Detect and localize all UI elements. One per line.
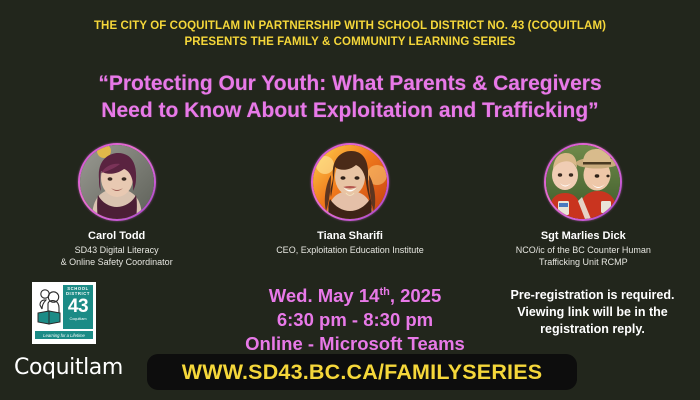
sd43-number: 43 <box>68 297 88 317</box>
speaker-card-carol-todd: Carol Todd SD43 Digital Literacy & Onlin… <box>12 143 222 268</box>
event-date: Wed. May 14th, 2025 <box>205 280 505 308</box>
registration-note: Pre-registration is required. Viewing li… <box>485 287 700 338</box>
url-banner[interactable]: WWW.SD43.BC.CA/FAMILYSERIES <box>147 354 577 390</box>
event-platform: Online - Microsoft Teams <box>205 332 505 356</box>
avatar-ring <box>544 143 622 221</box>
logo-block: SCHOOL DISTRICT 43 Coquitlam Learning fo… <box>14 282 146 380</box>
sd43-city: Coquitlam <box>69 317 86 322</box>
speaker-role-line-2: & Online Safety Coordinator <box>61 257 173 269</box>
header-line-2: PRESENTS THE FAMILY & COMMUNITY LEARNING… <box>0 34 700 50</box>
speaker-role-line-1: NCO/ic of the BC Counter Human <box>516 245 651 257</box>
speaker-role: SD43 Digital Literacy & Online Safety Co… <box>61 245 173 268</box>
speaker-card-sgt-marlies-dick: Sgt Marlies Dick NCO/ic of the BC Counte… <box>478 143 688 268</box>
sd43-reader-icon <box>35 285 63 329</box>
sd43-badge: SCHOOL DISTRICT 43 Coquitlam <box>63 285 93 329</box>
speaker-name: Carol Todd <box>88 229 145 243</box>
url-banner-text[interactable]: WWW.SD43.BC.CA/FAMILYSERIES <box>182 360 543 385</box>
speaker-name: Sgt Marlies Dick <box>541 229 626 243</box>
speaker-role-line-2: Trafficking Unit RCMP <box>516 257 651 269</box>
avatar <box>546 145 620 219</box>
avatar <box>80 145 154 219</box>
event-details: Wed. May 14th, 2025 6:30 pm - 8:30 pm On… <box>205 280 505 356</box>
page-title: “Protecting Our Youth: What Parents & Ca… <box>0 70 700 124</box>
header-line-1: THE CITY OF COQUITLAM IN PARTNERSHIP WIT… <box>0 18 700 34</box>
avatar-ring <box>311 143 389 221</box>
avatar <box>313 145 387 219</box>
event-time: 6:30 pm - 8:30 pm <box>205 308 505 332</box>
registration-line-1: Pre-registration is required. <box>485 287 700 304</box>
event-poster: THE CITY OF COQUITLAM IN PARTNERSHIP WIT… <box>0 0 700 400</box>
coquitlam-wordmark-text: Coquitlam <box>14 355 123 380</box>
registration-line-2: Viewing link will be in the <box>485 304 700 321</box>
registration-line-3: registration reply. <box>485 321 700 338</box>
header-kicker: THE CITY OF COQUITLAM IN PARTNERSHIP WIT… <box>0 18 700 50</box>
coquitlam-wordmark: Coquitlam <box>14 355 146 380</box>
speaker-list: Carol Todd SD43 Digital Literacy & Onlin… <box>0 143 700 268</box>
sd43-logo: SCHOOL DISTRICT 43 Coquitlam Learning fo… <box>32 282 96 344</box>
speaker-role: NCO/ic of the BC Counter Human Trafficki… <box>516 245 651 268</box>
sd43-logo-top: SCHOOL DISTRICT 43 Coquitlam <box>35 285 93 329</box>
speaker-name: Tiana Sharifi <box>317 229 383 243</box>
title-line-2: Need to Know About Exploitation and Traf… <box>0 97 700 124</box>
title-line-1: “Protecting Our Youth: What Parents & Ca… <box>0 70 700 97</box>
event-date-prefix: Wed. May 14 <box>269 285 380 306</box>
speaker-card-tiana-sharifi: Tiana Sharifi CEO, Exploitation Educatio… <box>245 143 455 257</box>
speaker-role-line-1: CEO, Exploitation Education Institute <box>276 245 424 257</box>
speaker-role: CEO, Exploitation Education Institute <box>276 245 424 257</box>
speaker-role-line-1: SD43 Digital Literacy <box>61 245 173 257</box>
event-date-suffix: , 2025 <box>390 285 441 306</box>
sd43-tagline: Learning for a Lifetime <box>43 333 85 338</box>
avatar-ring <box>78 143 156 221</box>
event-date-ordinal: th <box>379 286 389 298</box>
sd43-tagline-bar: Learning for a Lifetime <box>35 331 93 339</box>
